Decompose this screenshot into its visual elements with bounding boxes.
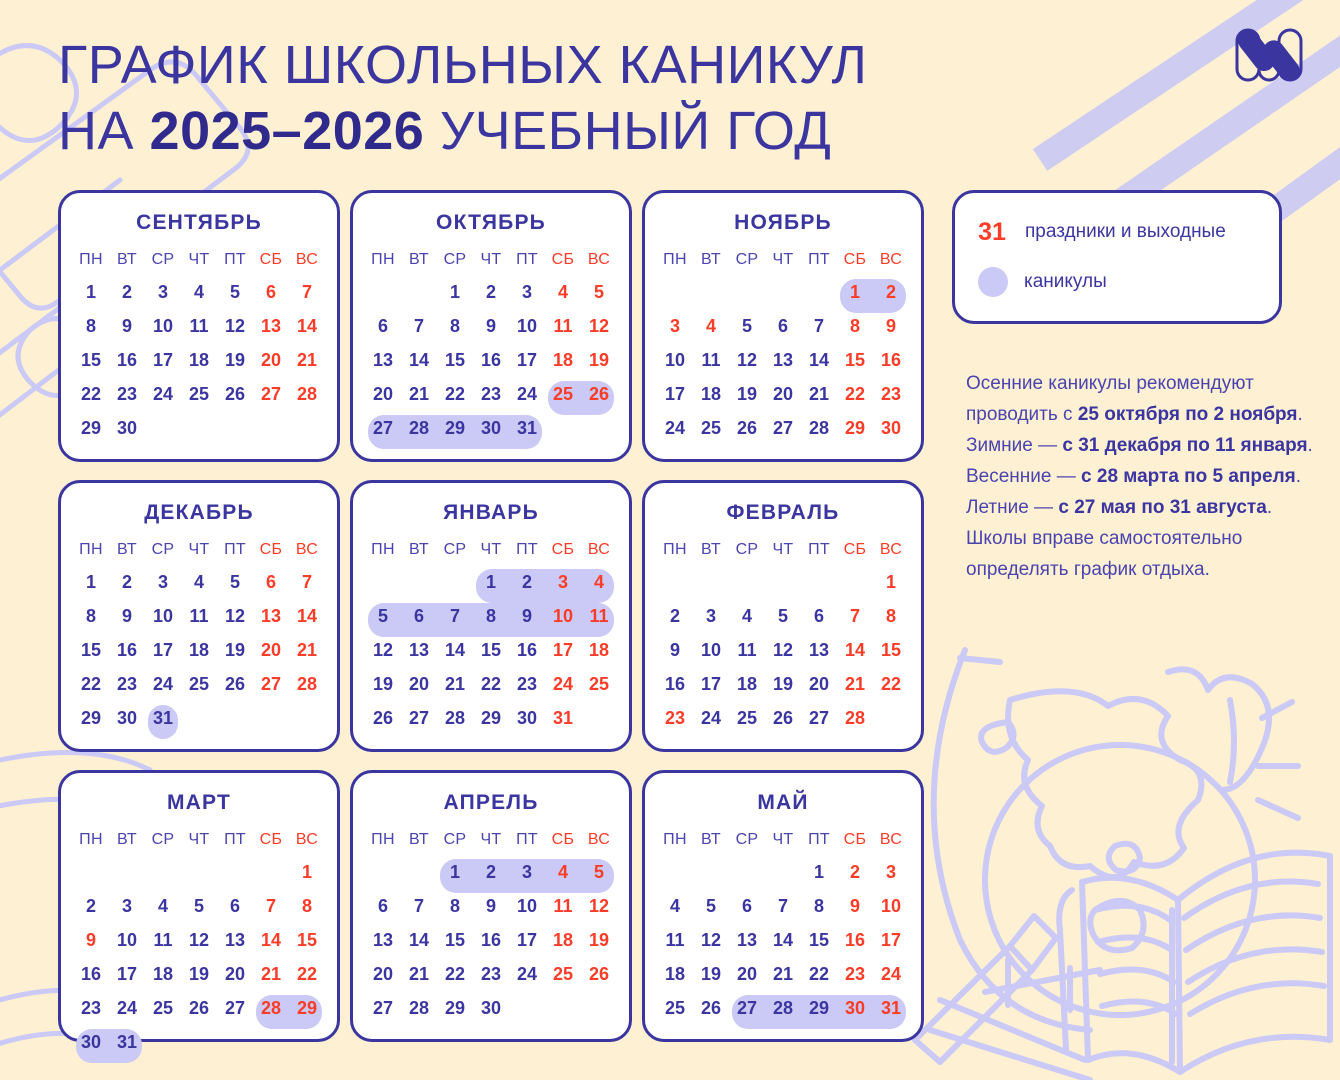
weekday-header: ПН — [365, 247, 401, 273]
day-cell: 15 — [73, 635, 109, 665]
day-cell: 9 — [109, 311, 145, 341]
weekday-header: ВТ — [109, 247, 145, 273]
day-cell: 14 — [437, 635, 473, 665]
weekday-header: ВС — [289, 537, 325, 563]
weekday-header: ВТ — [109, 537, 145, 563]
day-cell: 19 — [217, 635, 253, 665]
day-cell-empty — [217, 1027, 253, 1057]
day-cell: 15 — [73, 345, 109, 375]
day-cell: 29 — [73, 413, 109, 443]
day-cell: 17 — [145, 635, 181, 665]
day-cell: 26 — [729, 413, 765, 443]
day-cell: 28 — [765, 993, 801, 1023]
day-cell: 16 — [109, 345, 145, 375]
weekday-header: ЧТ — [181, 827, 217, 853]
day-cell: 25 — [729, 703, 765, 733]
day-cell: 27 — [217, 993, 253, 1023]
day-cell: 2 — [837, 857, 873, 887]
day-cell: 5 — [581, 857, 617, 887]
weekday-header: ВТ — [109, 827, 145, 853]
day-cell: 11 — [657, 925, 693, 955]
weekday-header: ПН — [365, 827, 401, 853]
day-grid: ПНВТСРЧТПТСБВС12345678910111213141516171… — [657, 537, 909, 733]
weekday-header: ЧТ — [765, 827, 801, 853]
day-cell: 17 — [873, 925, 909, 955]
day-cell: 25 — [657, 993, 693, 1023]
day-cell: 13 — [365, 345, 401, 375]
day-cell: 30 — [473, 993, 509, 1023]
vacation-swatch-icon — [978, 267, 1008, 297]
day-cell: 11 — [145, 925, 181, 955]
day-cell: 3 — [693, 601, 729, 631]
day-cell-empty — [253, 1027, 289, 1057]
day-cell: 13 — [217, 925, 253, 955]
day-cell: 4 — [545, 277, 581, 307]
legend-holiday-label: праздники и выходные — [1025, 221, 1226, 243]
day-cell: 13 — [729, 925, 765, 955]
day-cell: 31 — [509, 413, 545, 443]
day-cell-empty — [765, 277, 801, 307]
day-cell-empty — [289, 413, 325, 443]
day-cell: 9 — [657, 635, 693, 665]
day-cell: 24 — [873, 959, 909, 989]
day-cell: 12 — [217, 311, 253, 341]
day-cell: 25 — [581, 669, 617, 699]
weekday-header: СР — [729, 827, 765, 853]
day-cell: 6 — [729, 891, 765, 921]
day-cell: 27 — [365, 993, 401, 1023]
weekday-header: ЧТ — [473, 827, 509, 853]
day-cell: 22 — [437, 379, 473, 409]
day-cell: 17 — [545, 635, 581, 665]
day-cell: 18 — [181, 635, 217, 665]
day-cell-empty — [693, 277, 729, 307]
day-cell: 23 — [873, 379, 909, 409]
weekday-header: ПТ — [509, 247, 545, 273]
day-cell: 15 — [437, 345, 473, 375]
day-cell-empty — [401, 567, 437, 597]
day-cell: 22 — [437, 959, 473, 989]
day-cell: 14 — [765, 925, 801, 955]
day-cell: 15 — [437, 925, 473, 955]
day-cell: 2 — [109, 567, 145, 597]
day-cell: 3 — [545, 567, 581, 597]
day-cell: 10 — [545, 601, 581, 631]
legend-box: 31 праздники и выходные каникулы — [952, 190, 1282, 324]
month-title: СЕНТЯБРЬ — [136, 211, 262, 235]
day-cell: 29 — [437, 413, 473, 443]
day-cell: 29 — [73, 703, 109, 733]
day-grid: ПНВТСРЧТПТСБВС12345678910111213141516171… — [657, 827, 909, 1023]
day-cell: 26 — [181, 993, 217, 1023]
month-title: ЯНВАРЬ — [443, 501, 539, 525]
day-cell-empty — [545, 413, 581, 443]
day-cell: 1 — [437, 857, 473, 887]
day-cell: 21 — [289, 345, 325, 375]
weekday-header: ПН — [73, 827, 109, 853]
weekday-header: ВТ — [401, 827, 437, 853]
day-cell-empty — [657, 277, 693, 307]
day-cell: 19 — [217, 345, 253, 375]
day-cell-empty — [581, 993, 617, 1023]
day-cell: 17 — [509, 345, 545, 375]
day-cell: 12 — [217, 601, 253, 631]
day-cell: 20 — [801, 669, 837, 699]
weekday-header: ВС — [289, 827, 325, 853]
day-cell-empty — [401, 277, 437, 307]
day-cell-empty — [253, 857, 289, 887]
day-grid: ПНВТСРЧТПТСБВС12345678910111213141516171… — [365, 537, 617, 733]
day-cell: 27 — [253, 669, 289, 699]
day-cell-empty — [253, 413, 289, 443]
day-cell: 15 — [801, 925, 837, 955]
day-cell: 5 — [217, 277, 253, 307]
weekday-header: ПН — [657, 537, 693, 563]
weekday-header: СР — [145, 827, 181, 853]
weekday-header: ВС — [581, 537, 617, 563]
weekday-header: ВТ — [401, 247, 437, 273]
day-cell: 13 — [253, 311, 289, 341]
title-prefix: НА — [58, 101, 150, 161]
day-cell: 4 — [581, 567, 617, 597]
title-line-1: ГРАФИК ШКОЛЬНЫХ КАНИКУЛ — [58, 32, 958, 98]
day-cell-empty — [217, 857, 253, 887]
day-cell: 11 — [581, 601, 617, 631]
day-cell: 21 — [253, 959, 289, 989]
day-cell: 27 — [365, 413, 401, 443]
day-cell: 12 — [365, 635, 401, 665]
month-card: МАЙПНВТСРЧТПТСБВС12345678910111213141516… — [642, 770, 924, 1042]
page-header: ГРАФИК ШКОЛЬНЫХ КАНИКУЛ НА 2025–2026 УЧЕ… — [58, 32, 958, 164]
day-cell: 20 — [217, 959, 253, 989]
day-cell: 19 — [765, 669, 801, 699]
day-cell: 3 — [509, 857, 545, 887]
day-cell: 21 — [765, 959, 801, 989]
weekday-header: ВТ — [693, 247, 729, 273]
note-emphasis: с 28 марта по 5 апреля — [1081, 466, 1296, 487]
day-cell: 28 — [801, 413, 837, 443]
day-cell: 7 — [253, 891, 289, 921]
day-cell-empty — [109, 857, 145, 887]
day-grid: ПНВТСРЧТПТСБВС12345678910111213141516171… — [365, 827, 617, 1023]
day-cell-empty — [545, 993, 581, 1023]
month-card: ЯНВАРЬПНВТСРЧТПТСБВС12345678910111213141… — [350, 480, 632, 752]
day-cell: 30 — [837, 993, 873, 1023]
day-cell: 24 — [109, 993, 145, 1023]
month-card: НОЯБРЬПНВТСРЧТПТСБВС12345678910111213141… — [642, 190, 924, 462]
day-cell: 1 — [289, 857, 325, 887]
day-cell: 9 — [509, 601, 545, 631]
day-cell: 30 — [509, 703, 545, 733]
day-cell: 2 — [657, 601, 693, 631]
day-cell: 16 — [837, 925, 873, 955]
day-cell: 3 — [873, 857, 909, 887]
day-cell: 18 — [581, 635, 617, 665]
weekday-header: ВТ — [401, 537, 437, 563]
day-cell: 8 — [437, 311, 473, 341]
day-cell: 5 — [581, 277, 617, 307]
day-cell: 28 — [837, 703, 873, 733]
day-cell: 23 — [109, 669, 145, 699]
day-cell: 2 — [509, 567, 545, 597]
weekday-header: ЧТ — [765, 247, 801, 273]
day-cell: 30 — [473, 413, 509, 443]
day-cell: 2 — [73, 891, 109, 921]
day-cell: 7 — [837, 601, 873, 631]
day-cell: 10 — [693, 635, 729, 665]
day-cell: 11 — [181, 311, 217, 341]
day-cell-empty — [657, 857, 693, 887]
day-cell: 31 — [145, 703, 181, 733]
day-cell: 26 — [581, 959, 617, 989]
day-cell-empty — [217, 703, 253, 733]
day-cell-empty — [581, 703, 617, 733]
weekday-header: ПН — [73, 537, 109, 563]
day-cell: 13 — [765, 345, 801, 375]
weekday-header: ВС — [873, 247, 909, 273]
day-cell: 10 — [873, 891, 909, 921]
weekday-header: ПТ — [509, 537, 545, 563]
day-cell-empty — [729, 857, 765, 887]
day-cell: 13 — [401, 635, 437, 665]
day-cell: 9 — [873, 311, 909, 341]
weekday-header: ПТ — [801, 247, 837, 273]
weekday-header: ПТ — [217, 827, 253, 853]
day-cell: 10 — [509, 311, 545, 341]
day-cell: 29 — [837, 413, 873, 443]
day-cell: 4 — [657, 891, 693, 921]
day-cell: 21 — [437, 669, 473, 699]
day-cell-empty — [401, 857, 437, 887]
day-cell-empty — [365, 567, 401, 597]
vacation-note: Осенние каникулы рекомендуют проводить с… — [966, 368, 1316, 585]
day-cell: 3 — [109, 891, 145, 921]
month-title: НОЯБРЬ — [734, 211, 832, 235]
day-cell-empty — [181, 1027, 217, 1057]
day-cell: 2 — [473, 277, 509, 307]
day-cell: 20 — [365, 379, 401, 409]
day-cell: 4 — [181, 567, 217, 597]
day-cell: 11 — [545, 891, 581, 921]
brand-logo — [1226, 22, 1312, 93]
day-cell: 25 — [181, 379, 217, 409]
day-cell: 25 — [693, 413, 729, 443]
day-cell: 12 — [181, 925, 217, 955]
day-cell: 10 — [145, 601, 181, 631]
month-card: ФЕВРАЛЬПНВТСРЧТПТСБВС1234567891011121314… — [642, 480, 924, 752]
day-cell-empty — [253, 703, 289, 733]
weekday-header: ПТ — [801, 827, 837, 853]
day-grid: ПНВТСРЧТПТСБВС12345678910111213141516171… — [73, 247, 325, 443]
day-cell: 18 — [181, 345, 217, 375]
day-cell: 18 — [657, 959, 693, 989]
weekday-header: ПТ — [801, 537, 837, 563]
day-cell-empty — [437, 567, 473, 597]
weekday-header: ЧТ — [765, 537, 801, 563]
day-cell: 7 — [401, 311, 437, 341]
weekday-header: СР — [729, 537, 765, 563]
day-cell: 22 — [801, 959, 837, 989]
day-cell: 29 — [437, 993, 473, 1023]
day-cell: 6 — [365, 311, 401, 341]
day-cell: 13 — [253, 601, 289, 631]
day-cell-empty — [837, 567, 873, 597]
day-cell: 16 — [473, 345, 509, 375]
day-cell: 9 — [473, 311, 509, 341]
day-cell: 27 — [729, 993, 765, 1023]
day-cell: 4 — [145, 891, 181, 921]
day-cell: 26 — [581, 379, 617, 409]
day-cell: 27 — [401, 703, 437, 733]
day-cell-empty — [765, 857, 801, 887]
weekday-header: СБ — [837, 827, 873, 853]
day-cell: 23 — [657, 703, 693, 733]
day-cell-empty — [693, 857, 729, 887]
month-title: ФЕВРАЛЬ — [727, 501, 840, 525]
day-cell: 2 — [109, 277, 145, 307]
day-cell: 16 — [873, 345, 909, 375]
day-cell: 5 — [729, 311, 765, 341]
day-cell: 3 — [657, 311, 693, 341]
day-cell: 16 — [473, 925, 509, 955]
day-cell: 3 — [509, 277, 545, 307]
day-cell: 17 — [509, 925, 545, 955]
day-cell: 28 — [437, 703, 473, 733]
day-cell: 3 — [145, 277, 181, 307]
calendar-poster: ГРАФИК ШКОЛЬНЫХ КАНИКУЛ НА 2025–2026 УЧЕ… — [0, 0, 1340, 1080]
day-cell: 24 — [509, 379, 545, 409]
day-cell: 23 — [73, 993, 109, 1023]
day-cell-empty — [801, 567, 837, 597]
day-cell: 28 — [401, 413, 437, 443]
day-cell: 12 — [729, 345, 765, 375]
day-cell: 31 — [545, 703, 581, 733]
weekday-header: ЧТ — [181, 537, 217, 563]
day-cell: 1 — [437, 277, 473, 307]
day-cell: 14 — [289, 601, 325, 631]
day-grid: ПНВТСРЧТПТСБВС12345678910111213141516171… — [657, 247, 909, 443]
day-cell: 9 — [473, 891, 509, 921]
month-card: ОКТЯБРЬПНВТСРЧТПТСБВС1234567891011121314… — [350, 190, 632, 462]
note-emphasis: с 27 мая по 31 августа — [1058, 497, 1266, 518]
day-cell: 4 — [181, 277, 217, 307]
weekday-header: ВТ — [693, 827, 729, 853]
month-card: СЕНТЯБРЬПНВТСРЧТПТСБВС123456789101112131… — [58, 190, 340, 462]
day-cell: 17 — [693, 669, 729, 699]
day-cell: 6 — [217, 891, 253, 921]
day-cell: 1 — [73, 277, 109, 307]
day-cell: 7 — [801, 311, 837, 341]
day-cell: 22 — [873, 669, 909, 699]
day-cell: 22 — [289, 959, 325, 989]
weekday-header: ПТ — [217, 537, 253, 563]
day-cell: 1 — [873, 567, 909, 597]
day-cell: 28 — [289, 669, 325, 699]
weekday-header: СР — [437, 537, 473, 563]
day-cell: 14 — [401, 925, 437, 955]
day-grid: ПНВТСРЧТПТСБВС12345678910111213141516171… — [365, 247, 617, 443]
day-cell-empty — [365, 277, 401, 307]
legend-vacation-label: каникулы — [1024, 271, 1107, 293]
day-cell: 7 — [765, 891, 801, 921]
day-cell-empty — [509, 993, 545, 1023]
weekday-header: ВС — [581, 247, 617, 273]
day-cell: 23 — [473, 379, 509, 409]
day-cell: 21 — [289, 635, 325, 665]
day-cell: 24 — [145, 379, 181, 409]
day-cell: 11 — [729, 635, 765, 665]
day-cell: 23 — [837, 959, 873, 989]
day-cell: 30 — [73, 1027, 109, 1057]
day-cell: 26 — [765, 703, 801, 733]
day-cell: 9 — [109, 601, 145, 631]
day-cell: 17 — [657, 379, 693, 409]
day-cell: 4 — [693, 311, 729, 341]
day-cell: 22 — [73, 669, 109, 699]
weekday-header: ЧТ — [473, 247, 509, 273]
day-cell: 24 — [545, 669, 581, 699]
day-cell: 2 — [873, 277, 909, 307]
day-cell-empty — [729, 277, 765, 307]
day-cell: 6 — [801, 601, 837, 631]
day-cell: 15 — [289, 925, 325, 955]
day-cell: 10 — [109, 925, 145, 955]
day-cell: 17 — [109, 959, 145, 989]
weekday-header: СР — [437, 247, 473, 273]
day-cell: 1 — [73, 567, 109, 597]
day-cell: 13 — [801, 635, 837, 665]
day-cell: 25 — [545, 959, 581, 989]
day-cell: 12 — [581, 891, 617, 921]
day-grid: ПНВТСРЧТПТСБВС12345678910111213141516171… — [73, 827, 325, 1057]
month-title: ДЕКАБРЬ — [144, 501, 254, 525]
day-cell: 14 — [837, 635, 873, 665]
month-card: МАРТПНВТСРЧТПТСБВС1234567891011121314151… — [58, 770, 340, 1042]
day-cell: 26 — [217, 669, 253, 699]
day-cell: 8 — [289, 891, 325, 921]
weekday-header: ПН — [73, 247, 109, 273]
day-cell: 23 — [109, 379, 145, 409]
day-cell: 19 — [581, 925, 617, 955]
day-cell: 28 — [289, 379, 325, 409]
day-cell: 24 — [509, 959, 545, 989]
day-cell: 31 — [109, 1027, 145, 1057]
day-cell: 4 — [545, 857, 581, 887]
day-cell: 5 — [365, 601, 401, 631]
day-cell: 19 — [581, 345, 617, 375]
day-cell: 1 — [837, 277, 873, 307]
day-cell-empty — [145, 413, 181, 443]
day-cell: 20 — [729, 959, 765, 989]
weekday-header: ПТ — [217, 247, 253, 273]
day-cell: 8 — [801, 891, 837, 921]
month-title: МАЙ — [757, 791, 808, 815]
weekday-header: ВС — [289, 247, 325, 273]
weekday-header: СБ — [545, 827, 581, 853]
title-line-2: НА 2025–2026 УЧЕБНЫЙ ГОД — [58, 98, 958, 164]
weekday-header: СБ — [253, 537, 289, 563]
day-cell: 8 — [437, 891, 473, 921]
weekday-header: СБ — [545, 247, 581, 273]
day-cell: 15 — [837, 345, 873, 375]
day-cell: 7 — [437, 601, 473, 631]
weekday-header: ЧТ — [181, 247, 217, 273]
day-cell: 27 — [253, 379, 289, 409]
day-cell: 20 — [253, 635, 289, 665]
day-cell: 23 — [509, 669, 545, 699]
weekday-header: ПН — [657, 247, 693, 273]
day-cell: 9 — [837, 891, 873, 921]
